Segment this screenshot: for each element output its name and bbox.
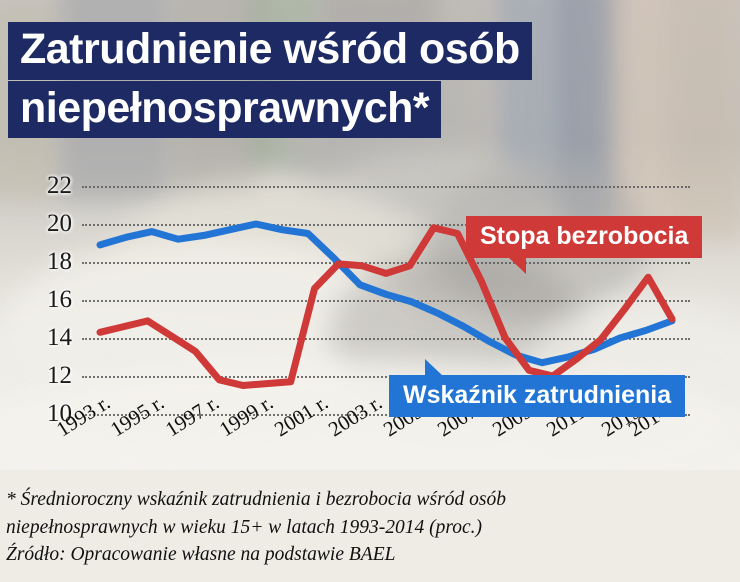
- footnote-line-2: niepełnosprawnych w wieku 15+ w latach 1…: [6, 514, 726, 542]
- footnote-line-3: Źródło: Opracowanie własne na podstawie …: [6, 541, 726, 569]
- legend-badge-employment[interactable]: Wskaźnik zatrudnienia: [389, 375, 685, 417]
- title-line-2: niepełnosprawnych*: [8, 81, 441, 139]
- legend-label-employment: Wskaźnik zatrudnienia: [403, 381, 671, 409]
- infographic-root: Zatrudnienie wśród osób niepełnosprawnyc…: [0, 0, 740, 582]
- page-title: Zatrudnienie wśród osób niepełnosprawnyc…: [8, 22, 532, 138]
- footnote-line-1: * Średnioroczny wskaźnik zatrudnienia i …: [6, 486, 726, 514]
- chart: 22 20 18 16 14 12 10 1993 r.1995 r.1997 …: [0, 160, 740, 480]
- callout-tail-icon: [508, 257, 526, 274]
- legend-label-unemployment: Stopa bezrobocia: [480, 222, 688, 250]
- title-line-1: Zatrudnienie wśród osób: [8, 22, 532, 80]
- legend-badge-unemployment[interactable]: Stopa bezrobocia: [466, 216, 702, 258]
- callout-tail-icon: [425, 359, 443, 376]
- footnote: * Średnioroczny wskaźnik zatrudnienia i …: [6, 486, 726, 569]
